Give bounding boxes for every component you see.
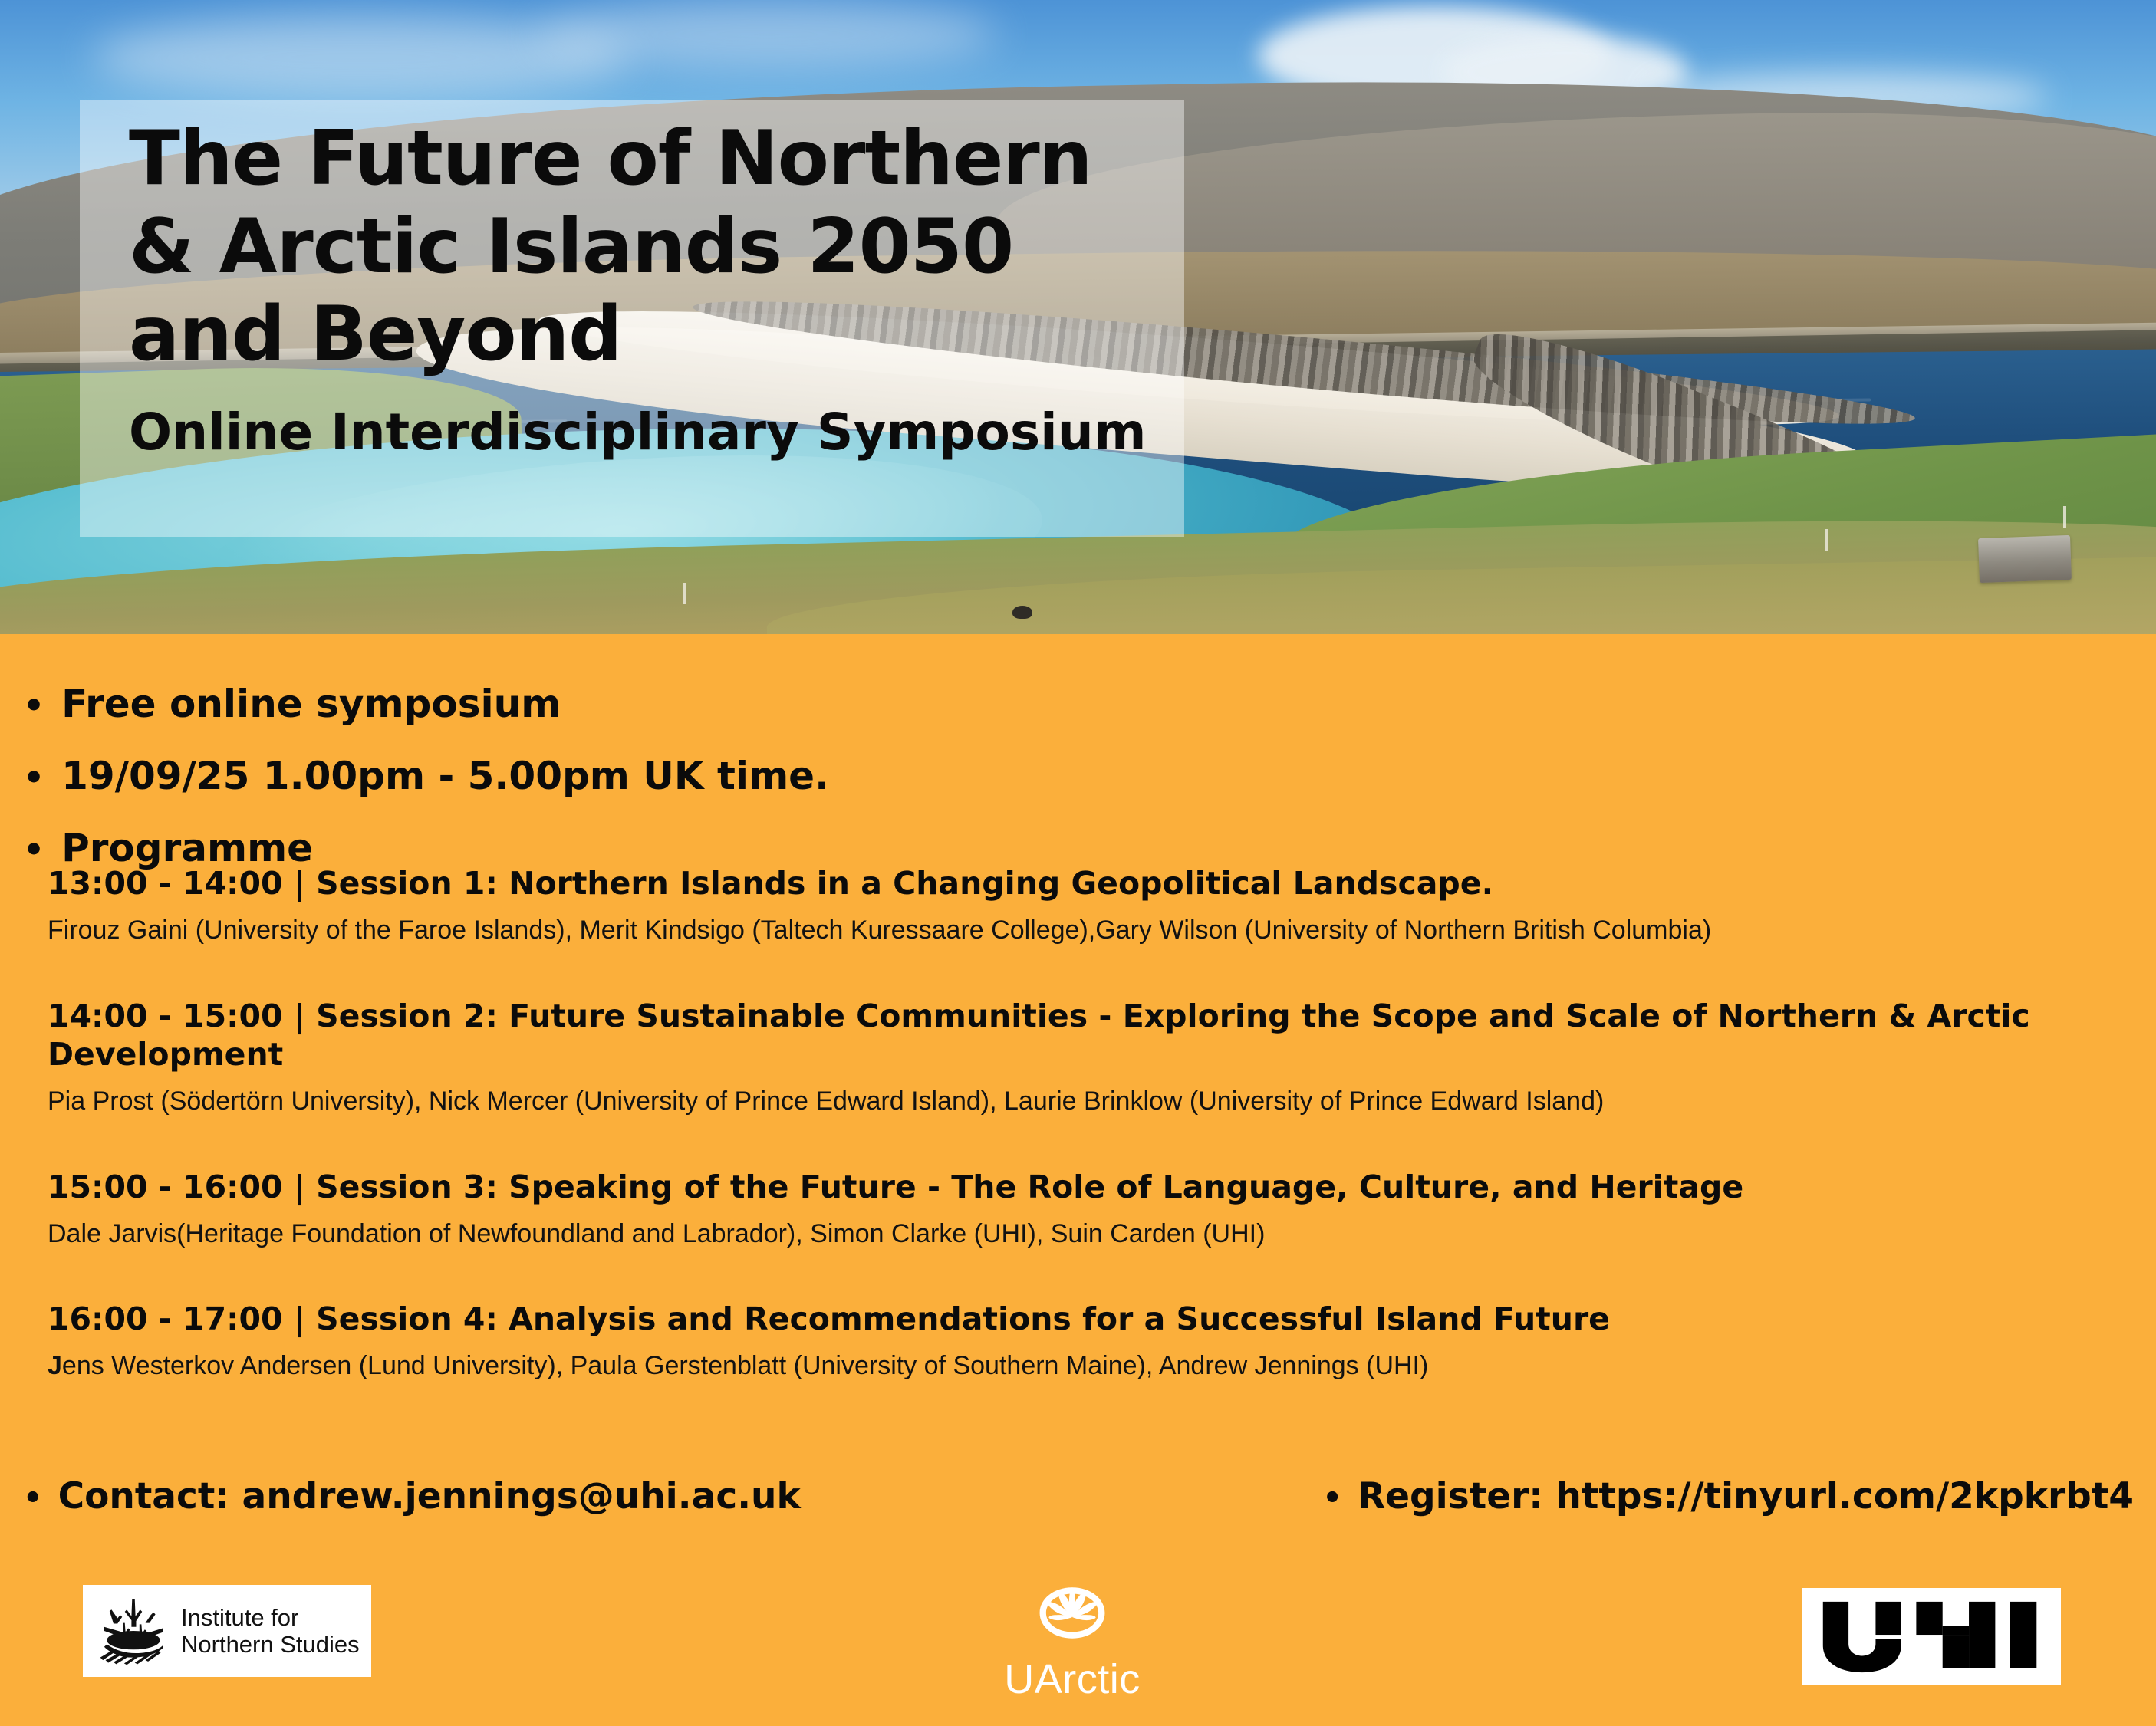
session-speakers: Firouz Gaini (University of the Faroe Is… bbox=[48, 915, 2118, 946]
session-item: 13:00 - 14:00 | Session 1: Northern Isla… bbox=[48, 864, 2118, 946]
bullet-label: 19/09/25 1.00pm - 5.00pm UK time. bbox=[61, 754, 829, 798]
title-block: The Future of Northern & Arctic Islands … bbox=[129, 115, 1172, 461]
institute-for-northern-studies-logo: Institute for Northern Studies bbox=[83, 1585, 371, 1677]
page-title: The Future of Northern & Arctic Islands … bbox=[129, 115, 1172, 379]
contact-email[interactable]: • Contact: andrew.jennings@uhi.ac.uk bbox=[23, 1475, 801, 1517]
fence-post bbox=[683, 583, 686, 604]
session-speakers: Pia Prost (Södertörn University), Nick M… bbox=[48, 1086, 2118, 1117]
session-item: 15:00 - 16:00 | Session 3: Speaking of t… bbox=[48, 1168, 2118, 1250]
bullet-date-time: • 19/09/25 1.00pm - 5.00pm UK time. bbox=[23, 754, 1404, 798]
uarctic-logo: UArctic bbox=[973, 1580, 1172, 1703]
details-panel: • Free online symposium • 19/09/25 1.00p… bbox=[0, 634, 2156, 1726]
session-item: 14:00 - 15:00 | Session 2: Future Sustai… bbox=[48, 997, 2118, 1117]
register-link[interactable]: • Register: https://tinyurl.com/2kpkrbt4 bbox=[1322, 1475, 2134, 1517]
speakers-text: ens Westerkov Andersen (Lund University)… bbox=[62, 1351, 1428, 1380]
uarctic-sun-icon bbox=[1029, 1580, 1115, 1654]
speakers-text: Pia Prost (Södertörn University), Nick M… bbox=[48, 1087, 1604, 1116]
bullet-icon: • bbox=[23, 833, 44, 867]
register-label: Register: https://tinyurl.com/2kpkrbt4 bbox=[1358, 1475, 2134, 1517]
bullet-icon: • bbox=[23, 1483, 43, 1514]
logo-row: Institute for Northern Studies UA bbox=[0, 1585, 2156, 1726]
institute-logo-text: Institute for Northern Studies bbox=[181, 1604, 360, 1659]
animal bbox=[1012, 606, 1032, 619]
session-item: 16:00 - 17:00 | Session 4: Analysis and … bbox=[48, 1300, 2118, 1382]
hero-landscape-photo: The Future of Northern & Arctic Islands … bbox=[0, 0, 2156, 634]
uarctic-logo-text: UArctic bbox=[973, 1655, 1172, 1703]
cloud bbox=[537, 0, 997, 69]
bullet-label: Free online symposium bbox=[61, 682, 561, 726]
bullet-icon: • bbox=[23, 689, 44, 723]
session-speakers: Dale Jarvis(Heritage Foundation of Newfo… bbox=[48, 1218, 2118, 1250]
programme-list: 13:00 - 14:00 | Session 1: Northern Isla… bbox=[48, 864, 2118, 1432]
antler-nest-icon bbox=[94, 1596, 173, 1666]
page-subtitle: Online Interdisciplinary Symposium bbox=[129, 405, 1172, 461]
fence-post bbox=[1825, 529, 1828, 551]
bullet-icon: • bbox=[1322, 1483, 1342, 1514]
speakers-lead: J bbox=[48, 1351, 62, 1380]
session-title: 13:00 - 14:00 | Session 1: Northern Isla… bbox=[48, 864, 2118, 902]
shed-building bbox=[1978, 535, 2072, 583]
symposium-poster: The Future of Northern & Arctic Islands … bbox=[0, 0, 2156, 1726]
session-speakers: Jens Westerkov Andersen (Lund University… bbox=[48, 1350, 2118, 1382]
uhi-logo bbox=[1802, 1588, 2061, 1685]
bullet-free-online: • Free online symposium bbox=[23, 682, 1404, 726]
speakers-text: Dale Jarvis(Heritage Foundation of Newfo… bbox=[48, 1219, 1265, 1248]
contact-label: Contact: andrew.jennings@uhi.ac.uk bbox=[58, 1475, 801, 1517]
fence-post bbox=[2063, 506, 2066, 528]
session-title: 14:00 - 15:00 | Session 2: Future Sustai… bbox=[48, 997, 2118, 1073]
uhi-wordmark-icon bbox=[1818, 1597, 2045, 1675]
bullet-icon: • bbox=[23, 761, 44, 795]
session-title: 16:00 - 17:00 | Session 4: Analysis and … bbox=[48, 1300, 2118, 1338]
footer-contact-row: • Contact: andrew.jennings@uhi.ac.uk • R… bbox=[23, 1475, 2140, 1517]
speakers-text: Firouz Gaini (University of the Faroe Is… bbox=[48, 916, 1711, 945]
session-title: 15:00 - 16:00 | Session 3: Speaking of t… bbox=[48, 1168, 2118, 1206]
